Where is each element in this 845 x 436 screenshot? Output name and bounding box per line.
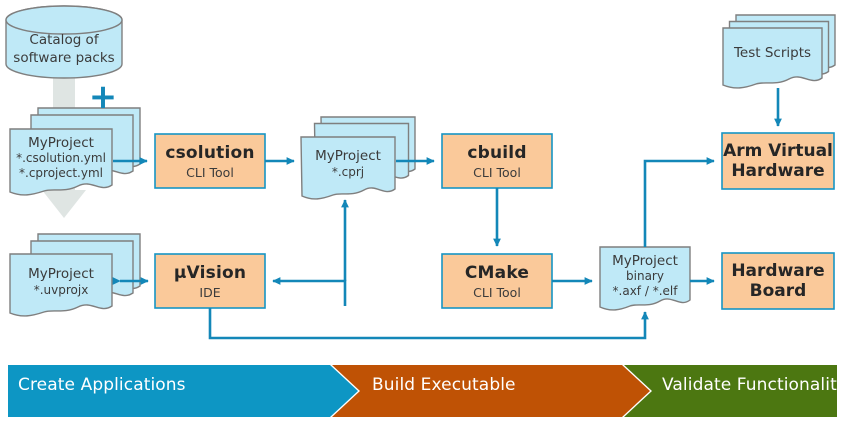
myproject-cprj-docs-shape [301, 117, 415, 199]
myproject-yml-docs-shape [10, 108, 140, 195]
uvision-box [155, 254, 265, 308]
myproject-binary-doc-shape [600, 247, 690, 310]
arrow-binary-to-avh [645, 161, 714, 247]
csolution-box [155, 134, 265, 188]
diagram-canvas [0, 0, 845, 436]
arm-virtual-hardware-box [722, 133, 834, 189]
hardware-board-box [722, 253, 834, 309]
myproject-uvprojx-docs-shape [10, 234, 140, 316]
workflow-diagram: Catalog of software packs + MyProject *.… [0, 0, 845, 436]
catalog-cylinder-shape [6, 6, 122, 78]
cmake-box [442, 254, 552, 308]
test-scripts-docs-shape [723, 15, 835, 88]
arrow-uvision-to-binary [210, 308, 645, 338]
arrow-uvision-to-cprj-left [273, 281, 345, 306]
cbuild-box [442, 134, 552, 188]
